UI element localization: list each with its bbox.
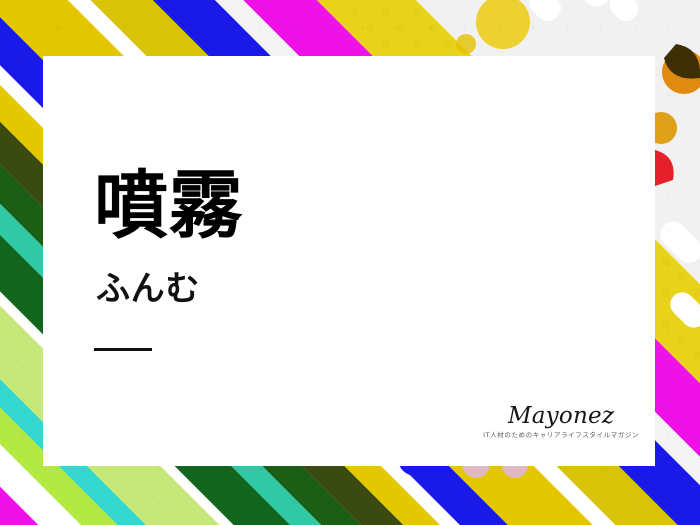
screenshot-stage: 噴霧 ふんむ Mayonez IT人材のためのキャリアライフスタイルマガジン	[0, 0, 700, 525]
title-divider	[94, 348, 152, 351]
card-inner: 噴霧 ふんむ Mayonez IT人材のためのキャリアライフスタイルマガジン	[43, 56, 655, 466]
accent-dot-yellow-large	[476, 0, 530, 49]
brand-name: Mayonez	[483, 404, 639, 428]
content-card: 噴霧 ふんむ Mayonez IT人材のためのキャリアライフスタイルマガジン	[43, 56, 655, 466]
brand-tagline: IT人材のためのキャリアライフスタイルマガジン	[483, 432, 639, 440]
accent-pill-white-2	[605, 0, 643, 26]
accent-dot-yellow-mid	[456, 34, 476, 54]
page-title: 噴霧	[94, 169, 243, 243]
brand-lockup: Mayonez IT人材のためのキャリアライフスタイルマガジン	[483, 404, 639, 440]
accent-pill-white-1	[524, 0, 566, 26]
reading-furigana: ふんむ	[96, 272, 200, 306]
